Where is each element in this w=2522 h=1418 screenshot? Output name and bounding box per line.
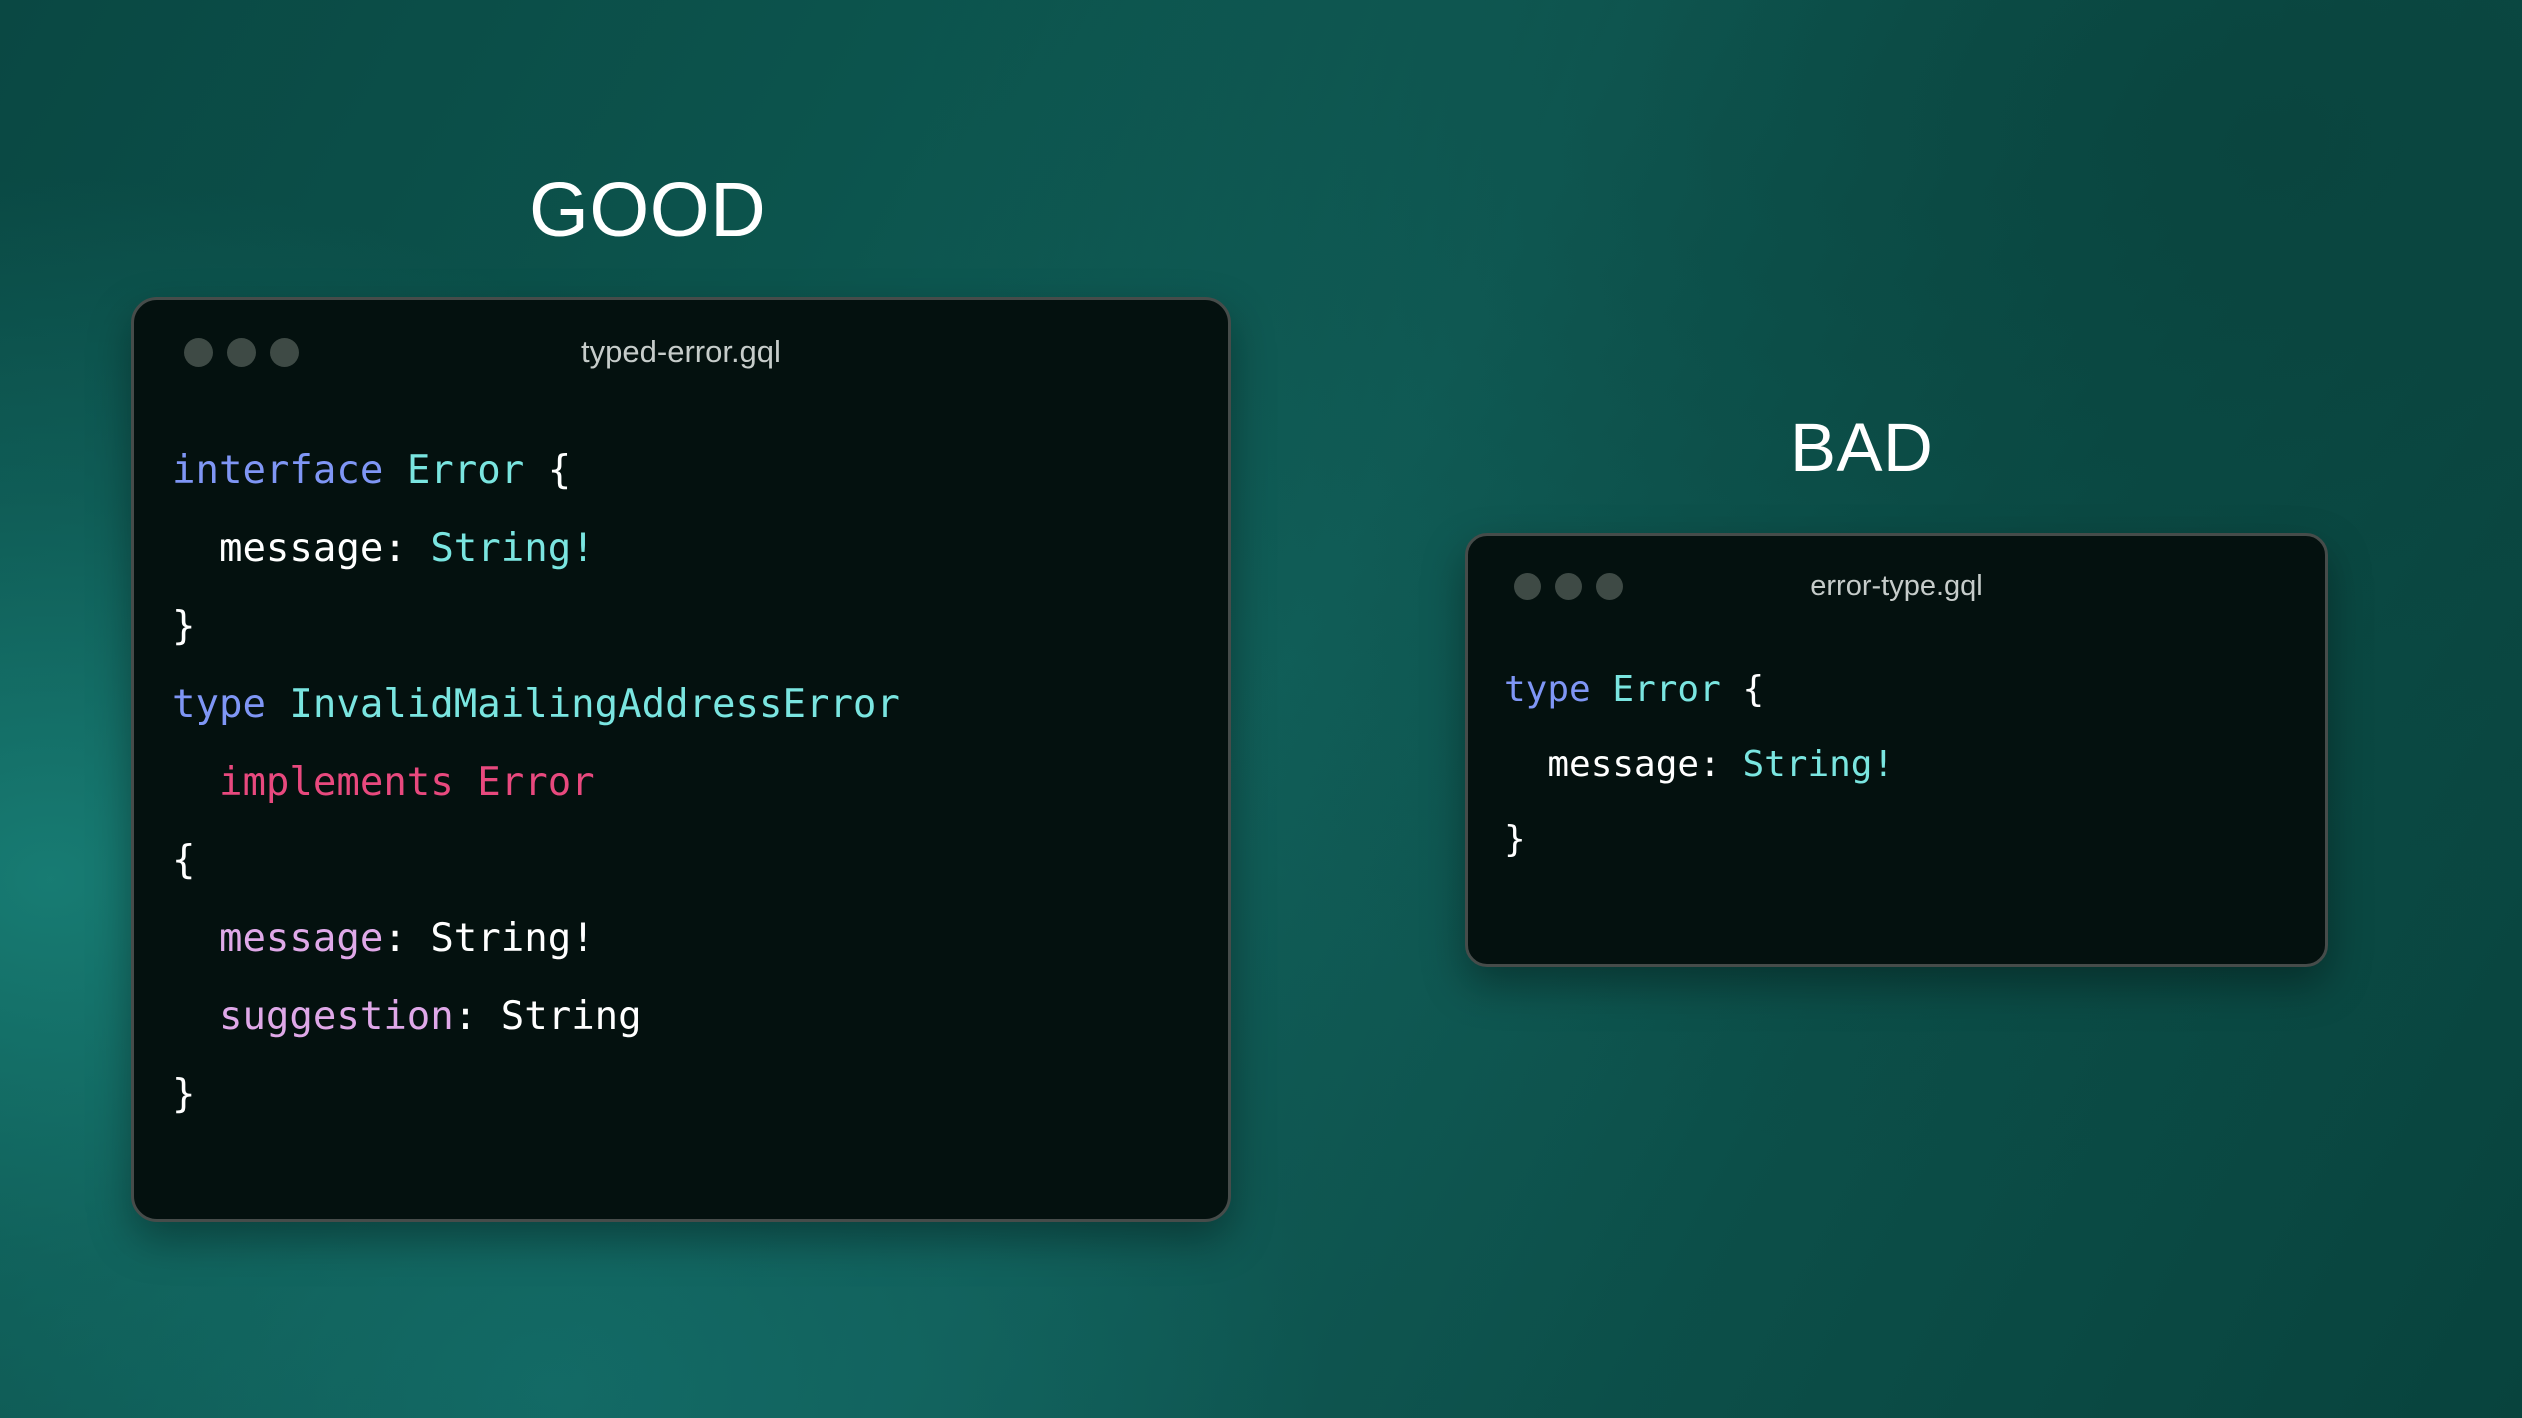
code-token-type: Error — [1612, 669, 1720, 710]
code-token-type: String! — [430, 526, 594, 571]
maximize-dot-icon[interactable] — [270, 338, 299, 367]
code-token-plain — [454, 760, 477, 805]
code-token-punct: { — [524, 448, 571, 493]
code-token-plain — [1591, 669, 1613, 710]
code-token-punct: : — [383, 916, 430, 961]
code-token-plain — [172, 760, 219, 805]
code-token-implements: implements — [219, 760, 454, 805]
code-line: interface Error { — [172, 432, 1228, 510]
code-token-type: String! — [1742, 744, 1894, 785]
minimize-dot-icon[interactable] — [1555, 573, 1582, 600]
code-token-plain: String — [501, 994, 642, 1039]
code-token-implements: Error — [477, 760, 594, 805]
code-token-punct: : — [454, 994, 501, 1039]
code-token-punct: { — [1721, 669, 1764, 710]
code-token-plain — [1504, 744, 1547, 785]
code-line: message: String! — [1504, 727, 2325, 802]
code-token-field: suggestion — [219, 994, 454, 1039]
close-dot-icon[interactable] — [184, 338, 213, 367]
code-token-keyword: interface — [172, 448, 383, 493]
code-token-field: message — [219, 916, 383, 961]
code-token-plain: message — [219, 526, 383, 571]
bad-window-controls — [1514, 573, 1623, 600]
code-token-punct: } — [172, 1072, 195, 1117]
code-line: } — [1504, 802, 2325, 877]
code-token-type: InvalidMailingAddressError — [289, 682, 899, 727]
code-token-plain — [172, 994, 219, 1039]
code-token-keyword: type — [172, 682, 266, 727]
code-line: { — [172, 822, 1228, 900]
code-token-plain — [383, 448, 406, 493]
minimize-dot-icon[interactable] — [227, 338, 256, 367]
code-line: type InvalidMailingAddressError — [172, 666, 1228, 744]
code-token-plain: message — [1547, 744, 1699, 785]
good-section-label: GOOD — [529, 172, 766, 249]
good-window-controls — [184, 338, 299, 367]
code-line: type Error { — [1504, 652, 2325, 727]
good-window-titlebar: typed-error.gql — [134, 300, 1228, 404]
close-dot-icon[interactable] — [1514, 573, 1541, 600]
maximize-dot-icon[interactable] — [1596, 573, 1623, 600]
code-token-punct: : — [383, 526, 430, 571]
code-token-plain — [172, 916, 219, 961]
slide-canvas: GOOD typed-error.gql interface Error { m… — [0, 0, 2522, 1418]
bad-code-block: type Error { message: String!} — [1468, 636, 2325, 877]
code-token-punct: : — [1699, 744, 1742, 785]
good-code-window: typed-error.gql interface Error { messag… — [131, 297, 1231, 1222]
code-line: suggestion: String — [172, 978, 1228, 1056]
code-line: implements Error — [172, 744, 1228, 822]
bad-section-label: BAD — [1790, 413, 1933, 482]
code-token-punct: } — [172, 604, 195, 649]
code-token-punct: } — [1504, 819, 1526, 860]
code-line: message: String! — [172, 900, 1228, 978]
code-token-plain: String! — [430, 916, 594, 961]
code-token-keyword: type — [1504, 669, 1591, 710]
good-code-block: interface Error { message: String!}type … — [134, 404, 1228, 1134]
bad-window-titlebar: error-type.gql — [1468, 536, 2325, 636]
code-token-type: Error — [407, 448, 524, 493]
code-token-punct: { — [172, 838, 195, 883]
code-token-plain — [172, 526, 219, 571]
code-line: message: String! — [172, 510, 1228, 588]
code-token-plain — [266, 682, 289, 727]
code-line: } — [172, 588, 1228, 666]
bad-code-window: error-type.gql type Error { message: Str… — [1465, 533, 2328, 967]
code-line: } — [172, 1056, 1228, 1134]
